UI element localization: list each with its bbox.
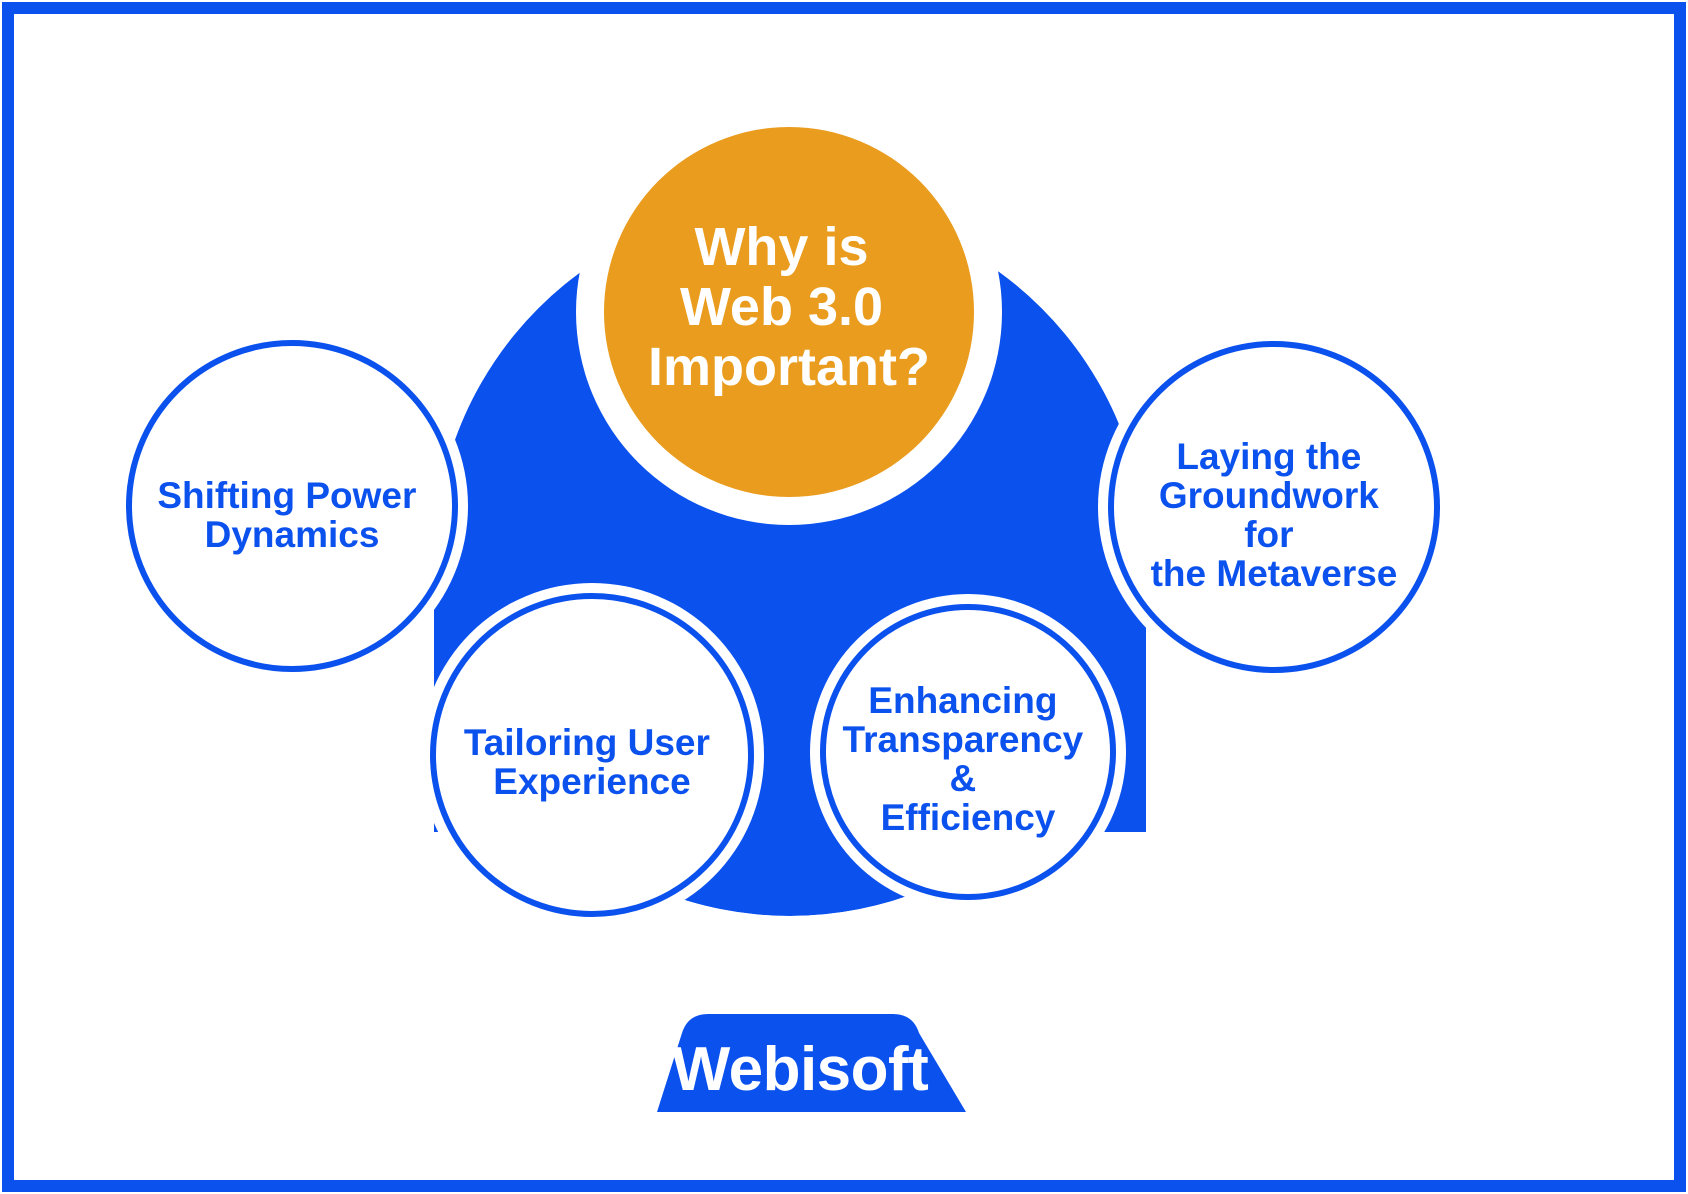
logo-text: Webisoft: [672, 1035, 929, 1104]
node-label: Tailoring User Experience: [464, 722, 720, 802]
node-label: Laying the Groundwork for the Metaverse: [1151, 436, 1398, 594]
center-node[interactable]: Why is Web 3.0 Important?: [604, 127, 974, 497]
node-laying-groundwork-metaverse[interactable]: Laying the Groundwork for the Metaverse: [1111, 344, 1437, 670]
node-enhancing-transparency-efficiency[interactable]: Enhancing Transparency & Efficiency: [823, 607, 1113, 897]
node-tailoring-user-experience[interactable]: Tailoring User Experience: [433, 596, 751, 914]
diagram-svg: Why is Web 3.0 Important? Shifting Power…: [0, 0, 1688, 1194]
infographic-canvas: Why is Web 3.0 Important? Shifting Power…: [0, 0, 1688, 1194]
node-shifting-power-dynamics[interactable]: Shifting Power Dynamics: [129, 343, 455, 669]
webisoft-logo[interactable]: Webisoft: [657, 1014, 966, 1112]
